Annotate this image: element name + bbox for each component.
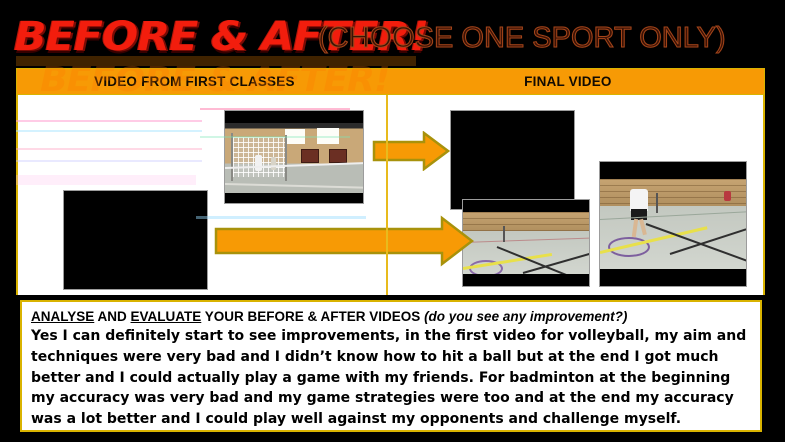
gym-window bbox=[285, 129, 305, 144]
gym-wall bbox=[463, 212, 589, 231]
slide-canvas: BEFORE & AFTER! (CHOOSE ONE SPORT ONLY) … bbox=[0, 0, 785, 442]
video-first-badminton-thumbnail[interactable] bbox=[63, 190, 208, 290]
net-post bbox=[503, 226, 505, 242]
title-row: BEFORE & AFTER! (CHOOSE ONE SPORT ONLY) bbox=[0, 0, 785, 66]
badminton-floor-scene bbox=[463, 212, 589, 274]
media-panel bbox=[16, 95, 765, 295]
badminton-player-shirt bbox=[630, 189, 648, 211]
analysis-heading-evaluate: EVALUATE bbox=[131, 309, 202, 324]
volleyball-gym-scene bbox=[225, 123, 363, 193]
arrow-badminton bbox=[214, 215, 474, 267]
analysis-heading-question: (do you see any improvement?) bbox=[424, 309, 627, 324]
volleyball-player bbox=[271, 157, 276, 170]
arrow-volleyball bbox=[372, 131, 450, 171]
court-line bbox=[225, 183, 364, 189]
badminton-player-scene bbox=[600, 179, 746, 268]
video-final-badminton-floor-thumbnail[interactable] bbox=[462, 199, 590, 287]
analysis-heading-analyse: ANALYSE bbox=[31, 309, 94, 324]
analysis-heading-and: AND bbox=[94, 309, 130, 324]
video-final-volleyball-thumbnail[interactable] bbox=[450, 110, 575, 210]
video-final-badminton-player-thumbnail[interactable] bbox=[599, 161, 747, 287]
volleyball-player bbox=[255, 155, 262, 171]
analysis-heading: ANALYSE AND EVALUATE YOUR BEFORE & AFTER… bbox=[31, 308, 751, 325]
net-post bbox=[656, 193, 658, 213]
video-first-volleyball-thumbnail[interactable] bbox=[224, 110, 364, 204]
header-left-video-from-first-classes: VIDEO FROM FIRST CLASSES bbox=[17, 69, 372, 94]
column-divider bbox=[386, 95, 388, 295]
analysis-body-text: Yes I can definitely start to see improv… bbox=[31, 326, 751, 430]
background-player bbox=[724, 191, 731, 201]
gym-door bbox=[329, 149, 347, 163]
analysis-text-box[interactable]: ANALYSE AND EVALUATE YOUR BEFORE & AFTER… bbox=[20, 300, 762, 432]
analysis-heading-rest: YOUR BEFORE & AFTER VIDEOS bbox=[201, 309, 424, 324]
net-post bbox=[231, 133, 233, 181]
column-header-bar: VIDEO FROM FIRST CLASSES FINAL VIDEO bbox=[16, 68, 765, 95]
net-post bbox=[285, 135, 287, 181]
gym-door bbox=[301, 149, 319, 163]
page-subtitle: (CHOOSE ONE SPORT ONLY) bbox=[318, 22, 726, 55]
header-right-final-video: FINAL VIDEO bbox=[372, 69, 764, 94]
gym-window bbox=[317, 128, 339, 144]
